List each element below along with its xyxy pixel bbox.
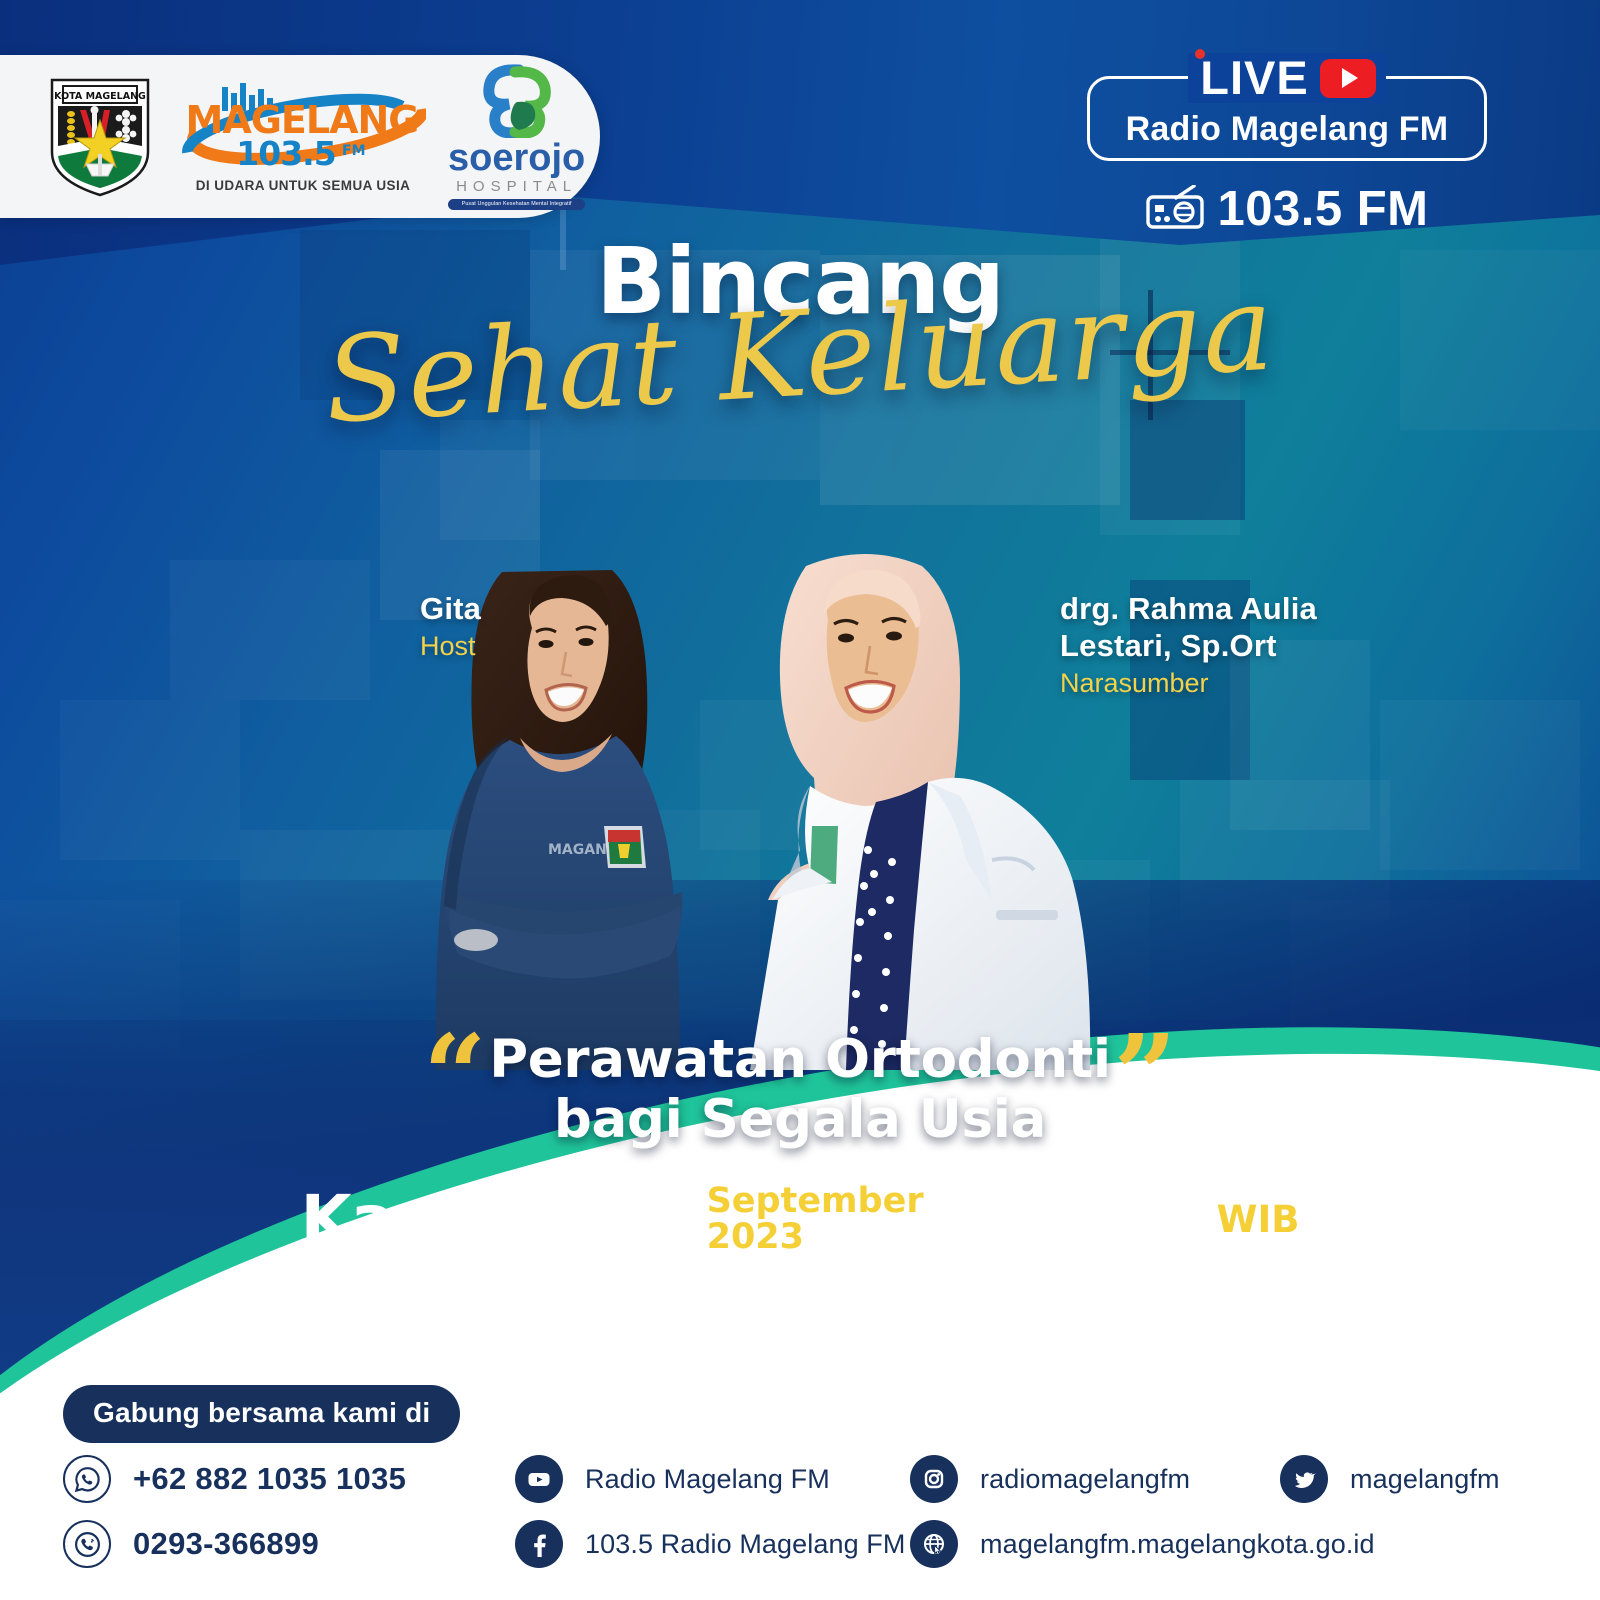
- kota-magelang-crest: KOTA MAGELANG: [46, 76, 154, 198]
- host-name: Gita: [420, 590, 481, 627]
- speaker-name-line2: Lestari, Sp.Ort: [1060, 627, 1317, 664]
- phone-number: 0293-366899: [133, 1526, 319, 1562]
- whatsapp-icon: [63, 1455, 111, 1503]
- schedule-timezone: WIB: [1217, 1198, 1300, 1241]
- radio-icon: [1146, 185, 1204, 234]
- soerojo-tagline-pill: Pusat Unggulan Kesehatan Mental Integrat…: [448, 199, 585, 210]
- globe-icon: [910, 1520, 958, 1568]
- contact-row-whatsapp[interactable]: +62 882 1035 1035: [63, 1455, 406, 1503]
- schedule-year: 2023: [707, 1219, 924, 1255]
- facebook-handle: 103.5 Radio Magelang FM: [585, 1529, 906, 1560]
- live-top-row: LIVE: [1090, 53, 1484, 103]
- contact-column: +62 882 1035 1035 0293-366899: [63, 1455, 406, 1585]
- twitter-handle: magelangfm: [1350, 1464, 1500, 1495]
- twitter-icon: [1280, 1455, 1328, 1503]
- website-url: magelangfm.magelangkota.go.id: [980, 1529, 1375, 1560]
- phone-icon: [63, 1520, 111, 1568]
- svg-text:103.5: 103.5: [236, 134, 335, 173]
- soerojo-subtitle: HOSPITAL: [448, 178, 585, 195]
- svg-text:MAGAN: MAGAN: [548, 842, 607, 858]
- schedule-date: 07: [551, 1176, 707, 1262]
- instagram-icon: [910, 1455, 958, 1503]
- social-row-twitter[interactable]: magelangfm: [1280, 1455, 1500, 1503]
- social-column-1: Radio Magelang FM 103.5 Radio Magelang F…: [515, 1455, 906, 1585]
- soerojo-wordmark: soerojo: [448, 139, 585, 177]
- topic-line-1: Perawatan Ortodonti: [489, 1030, 1111, 1090]
- join-label: Gabung bersama kami di: [93, 1397, 430, 1428]
- schedule-month-year: September 2023: [707, 1183, 950, 1255]
- live-channel-box: Radio Magelang FM LIVE: [1087, 76, 1487, 161]
- facebook-icon: [515, 1520, 563, 1568]
- social-row-youtube[interactable]: Radio Magelang FM: [515, 1455, 906, 1503]
- youtube-icon: [515, 1455, 563, 1503]
- magelang-radio-logo: MAGELANG 103.5 FM DI UDARA UNTUK SEMUA U…: [180, 81, 426, 193]
- svg-text:FM: FM: [342, 143, 366, 159]
- social-column-3: magelangfm: [1280, 1455, 1500, 1520]
- contact-row-phone[interactable]: 0293-366899: [63, 1520, 406, 1568]
- poster-title: Bincang Sehat Keluarga: [0, 228, 1600, 423]
- schedule-month: September: [707, 1183, 924, 1219]
- speaker-name-line1: drg. Rahma Aulia: [1060, 590, 1317, 627]
- schedule-divider-2: [950, 1180, 953, 1258]
- live-label: LIVE: [1198, 53, 1308, 103]
- social-row-facebook[interactable]: 103.5 Radio Magelang FM: [515, 1520, 906, 1568]
- join-pill: Gabung bersama kami di: [63, 1385, 460, 1443]
- soerojo-hospital-logo: soerojo HOSPITAL Pusat Unggulan Kesehata…: [448, 64, 585, 210]
- quote-close-icon: ”: [1113, 1030, 1176, 1120]
- youtube-play-icon[interactable]: [1320, 59, 1376, 98]
- live-badge: Radio Magelang FM LIVE: [1087, 50, 1487, 237]
- speaker-portrait: [660, 430, 1130, 1070]
- social-row-website[interactable]: magelangfm.magelangkota.go.id: [910, 1520, 1375, 1568]
- quote-open-icon: “: [423, 1030, 486, 1120]
- poster-canvas: KOTA MAGELANG: [0, 0, 1600, 1600]
- live-channel-name: Radio Magelang FM: [1126, 110, 1449, 149]
- host-label-block: Gita Host: [420, 590, 481, 663]
- topic-line-2: bagi Segala Usia: [489, 1090, 1111, 1150]
- topic-block: “ ” Perawatan Ortodonti bagi Segala Usia: [0, 1030, 1600, 1150]
- instagram-handle: radiomagelangfm: [980, 1464, 1190, 1495]
- schedule-day: Kamis: [301, 1181, 548, 1258]
- speaker-role: Narasumber: [1060, 666, 1317, 700]
- whatsapp-number: +62 882 1035 1035: [133, 1461, 406, 1497]
- soerojo-tagline: Pusat Unggulan Kesehatan Mental Integrat…: [462, 201, 572, 207]
- schedule-divider-1: [548, 1180, 551, 1258]
- speaker-photos: MAGAN: [360, 430, 1180, 1070]
- speaker-label-block: drg. Rahma Aulia Lestari, Sp.Ort Narasum…: [1060, 590, 1317, 700]
- schedule-bar: Kamis 07 September 2023 10.00 WIB: [0, 1176, 1600, 1262]
- schedule-time: 10.00: [953, 1176, 1217, 1262]
- svg-text:KOTA MAGELANG: KOTA MAGELANG: [54, 91, 146, 102]
- host-role: Host: [420, 629, 481, 663]
- youtube-handle: Radio Magelang FM: [585, 1464, 830, 1495]
- magelang-radio-tagline: DI UDARA UNTUK SEMUA USIA: [180, 178, 426, 193]
- header-logo-bar: KOTA MAGELANG: [0, 55, 600, 218]
